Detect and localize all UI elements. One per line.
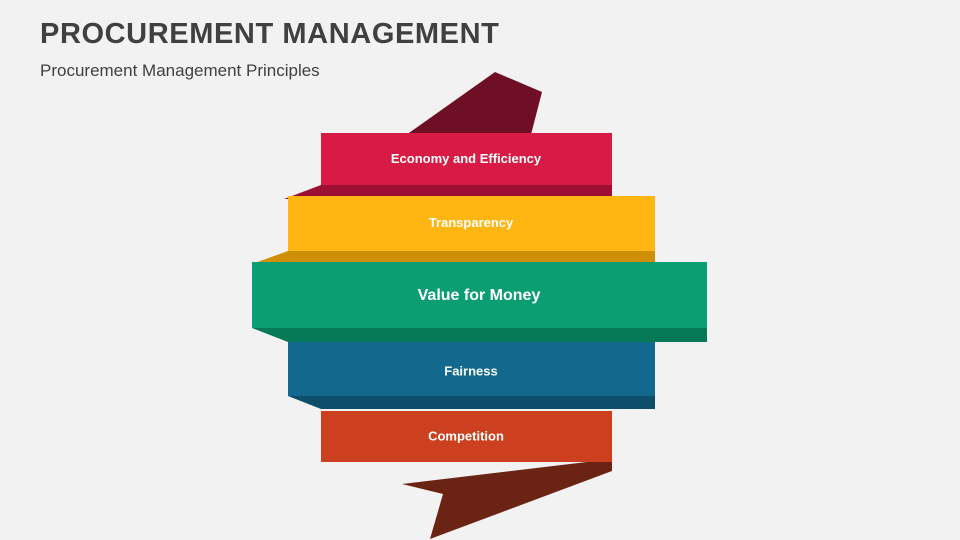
band-4-shadow [288, 396, 655, 409]
ribbon-banner-diagram: Economy and Efficiency Transparency Valu… [0, 0, 960, 540]
band-3-shadow [252, 328, 707, 342]
slide-canvas: PROCUREMENT MANAGEMENT Procurement Manag… [0, 0, 960, 540]
band-4-label: Fairness [444, 363, 497, 378]
band-2-label: Transparency [429, 215, 514, 230]
band-3-label: Value for Money [418, 287, 541, 304]
band-1-label: Economy and Efficiency [391, 151, 542, 166]
band-5-label: Competition [428, 428, 504, 443]
bottom-tail-shape [402, 459, 612, 539]
